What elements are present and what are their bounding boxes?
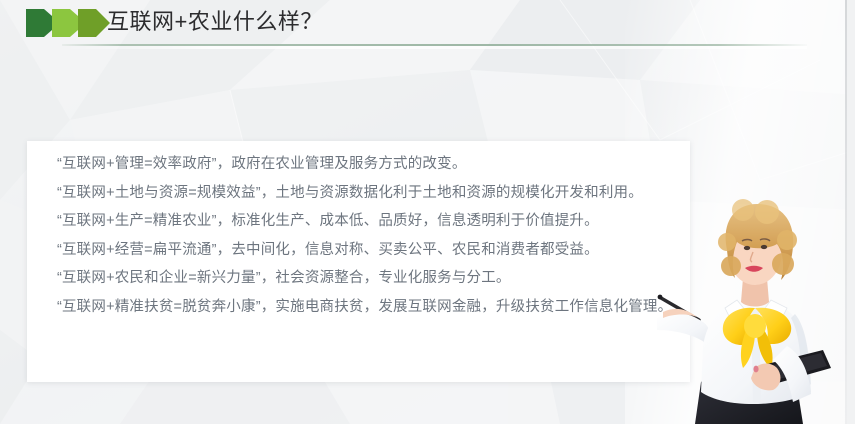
chevron-arrows-icon [26,9,110,37]
content-paragraph: “互联网+经营=扁平流通”，去中间化，信息对称、买卖公平、农民和消费者都受益。 [41,236,681,265]
header-divider-highlight [62,46,807,49]
right-edge-fill [847,0,855,424]
content-paragraph: “互联网+农民和企业=新兴力量”，社会资源整合，专业化服务与分工。 [41,264,681,293]
page-title: 互联网+农业什么样？ [107,6,323,38]
slide-header: 互联网+农业什么样？ [0,0,855,46]
content-paragraph: “互联网+精准扶贫=脱贫奔小康”，实施电商扶贫，发展互联网金融，升级扶贫工作信息… [41,293,681,322]
content-card: “互联网+管理=效率政府”，政府在农业管理及服务方式的改变。 “互联网+土地与资… [27,141,690,382]
content-text-block: “互联网+管理=效率政府”，政府在农业管理及服务方式的改变。 “互联网+土地与资… [41,150,681,322]
content-paragraph: “互联网+土地与资源=规模效益”，土地与资源数据化利于土地和资源的规模化开发和利… [41,179,681,208]
content-paragraph: “互联网+管理=效率政府”，政府在农业管理及服务方式的改变。 [41,150,681,179]
right-edge-line [845,0,847,424]
slide-canvas: 互联网+农业什么样？ “互联网+管理=效率政府”，政府在农业管理及服务方式的改变… [0,0,855,424]
content-paragraph: “互联网+生产=精准农业”，标准化生产、成本低、品质好，信息透明利于价值提升。 [41,207,681,236]
